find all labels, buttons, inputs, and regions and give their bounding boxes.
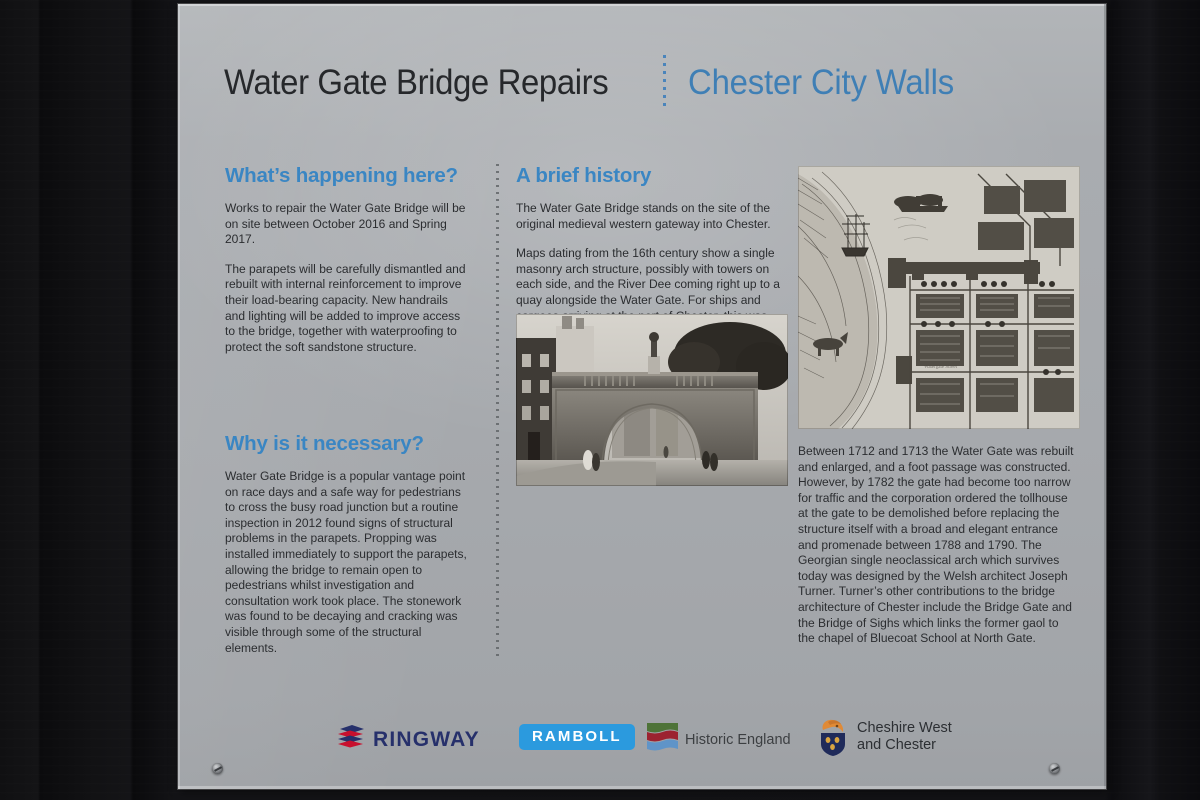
paragraph-whats-happening-2: The parapets will be carefully dismantle… [225, 262, 468, 356]
cwac-logo-line-2: and Chester [857, 737, 936, 753]
historic-bridge-photograph [516, 314, 788, 486]
panel-edge-top [178, 4, 1106, 6]
lion-and-shield-icon-svg [816, 717, 850, 757]
heading-a-brief-history: A brief history [516, 164, 794, 188]
column-left: What’s happening here? Works to repair t… [225, 164, 475, 355]
wavy-bands-icon-svg [647, 722, 678, 752]
section-why-is-it-necessary: Why is it necessary? Water Gate Bridge i… [225, 432, 475, 656]
heading-why-is-it-necessary: Why is it necessary? [225, 432, 475, 456]
stacked-layers-icon [336, 723, 366, 756]
cwac-logo-line-1: Cheshire West [857, 720, 952, 736]
column-dotted-divider [496, 164, 499, 661]
cheshire-west-and-chester-logo: Cheshire West and Chester [816, 717, 952, 762]
engraved-map-artwork: Watergate Street [798, 166, 1080, 429]
historic-england-logo-text: Historic England [685, 732, 791, 748]
page-subtitle: Chester City Walls [688, 63, 954, 103]
paragraph-brief-history-1: The Water Gate Bridge stands on the site… [516, 201, 786, 232]
ramboll-logo: RAMBOLL [519, 724, 635, 750]
stacked-layers-icon-svg [336, 723, 366, 751]
information-board-panel: Water Gate Bridge Repairs Chester City W… [178, 4, 1106, 789]
ringway-logo: RINGWAY [336, 723, 480, 756]
cheshire-west-and-chester-logo-text: Cheshire West and Chester [857, 717, 952, 754]
heading-whats-happening-here: What’s happening here? [225, 164, 475, 188]
ramboll-logo-text: RAMBOLL [532, 728, 622, 745]
panel-edge-right [1104, 4, 1106, 789]
paragraph-right-history: Between 1712 and 1713 the Water Gate was… [798, 444, 1077, 647]
panel-edge-bottom [178, 786, 1106, 789]
paragraph-whats-happening-1: Works to repair the Water Gate Bridge wi… [225, 201, 468, 248]
ringway-logo-text: RINGWAY [373, 728, 480, 752]
partner-logo-strip: RINGWAY RAMBOLL Historic England [178, 709, 1106, 769]
historic-england-logo: Historic England [647, 722, 791, 757]
bridge-photo-artwork [516, 314, 788, 486]
paragraph-why-is-it-necessary-1: Water Gate Bridge is a popular vantage p… [225, 469, 468, 656]
panel-edge-left [178, 4, 180, 789]
wavy-bands-icon [647, 722, 678, 757]
title-dotted-divider [663, 55, 666, 111]
svg-text:Watergate Street: Watergate Street [924, 365, 958, 370]
page-title: Water Gate Bridge Repairs [224, 63, 608, 103]
board-header: Water Gate Bridge Repairs Chester City W… [224, 50, 1074, 116]
historic-engraved-map: Watergate Street [798, 166, 1080, 429]
column-right-caption: Between 1712 and 1713 the Water Gate was… [798, 444, 1086, 647]
lion-and-shield-icon [816, 717, 850, 762]
